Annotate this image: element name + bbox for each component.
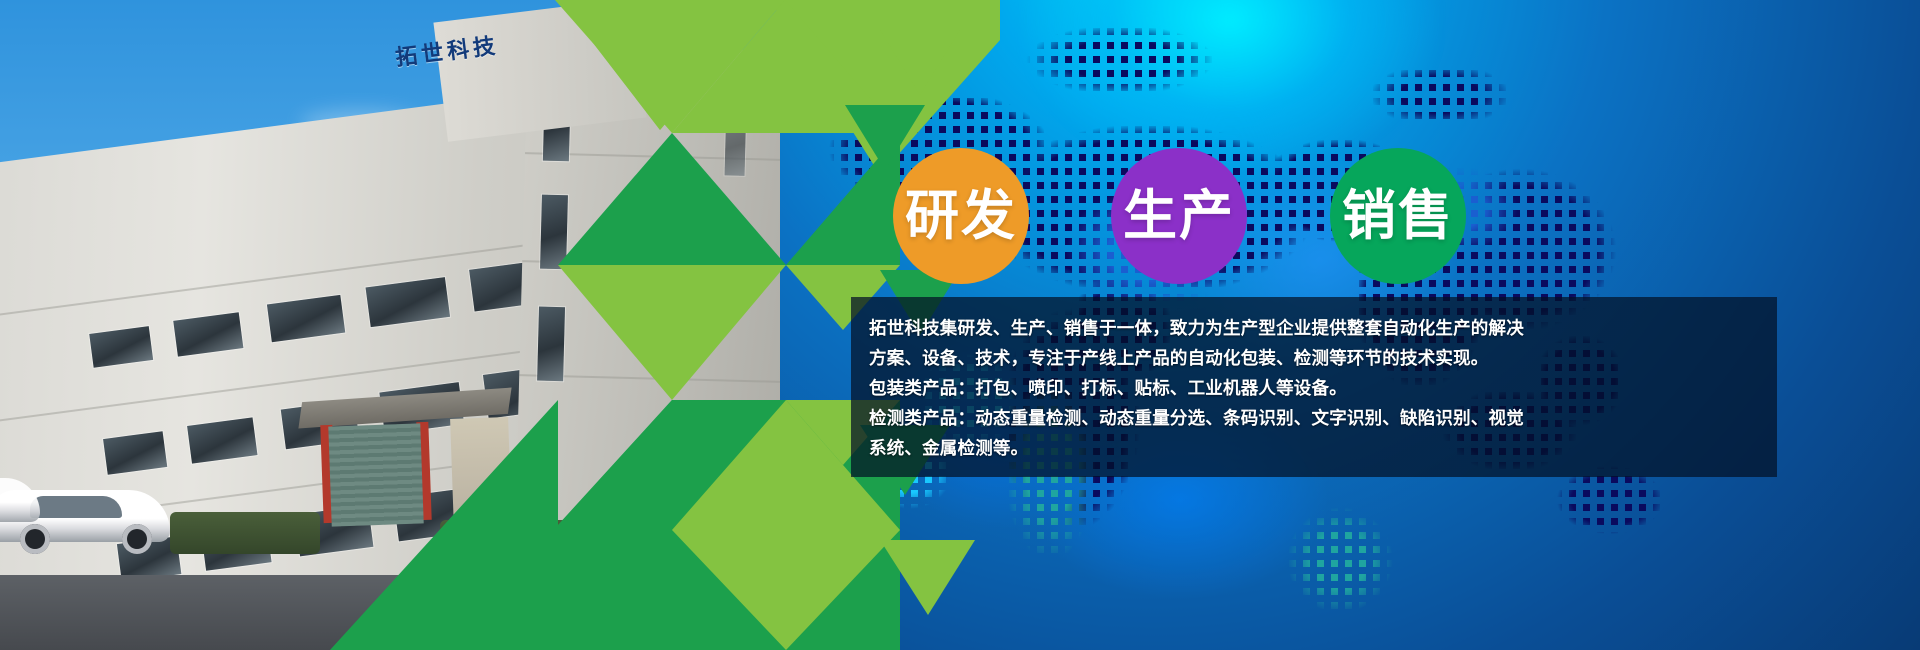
hedge (440, 520, 610, 560)
road-ground (0, 575, 780, 650)
description-line-1: 拓世科技集研发、生产、销售于一体，致力为生产型企业提供整套自动化生产的解决 (869, 314, 1759, 344)
circle-badge-rd[interactable]: 研发 (893, 148, 1029, 284)
roller-shutter-door (328, 423, 423, 526)
factory-building-photo: 拓世科技 (0, 0, 780, 650)
description-line-2: 方案、设备、技术，专注于产线上产品的自动化包装、检测等环节的技术实现。 (869, 344, 1759, 374)
circle-label-sales: 销售 (1342, 189, 1454, 243)
car-wheel (20, 524, 50, 554)
description-line-3: 包装类产品：打包、喷印、打标、贴标、工业机器人等设备。 (869, 374, 1759, 404)
side-door (450, 417, 512, 529)
circle-badge-production[interactable]: 生产 (1111, 148, 1247, 284)
description-line-4: 检测类产品：动态重量检测、动态重量分选、条码识别、文字识别、缺陷识别、视觉 (869, 404, 1759, 434)
car-wheel (122, 524, 152, 554)
company-hero-banner: 拓世科技 (0, 0, 1920, 650)
hedge (170, 512, 320, 554)
circle-badge-sales[interactable]: 销售 (1330, 148, 1466, 284)
description-panel: 拓世科技集研发、生产、销售于一体，致力为生产型企业提供整套自动化生产的解决 方案… (869, 314, 1759, 464)
description-line-5: 系统、金属检测等。 (869, 434, 1759, 464)
circle-label-rd: 研发 (905, 189, 1017, 243)
circle-label-production: 生产 (1123, 189, 1235, 243)
